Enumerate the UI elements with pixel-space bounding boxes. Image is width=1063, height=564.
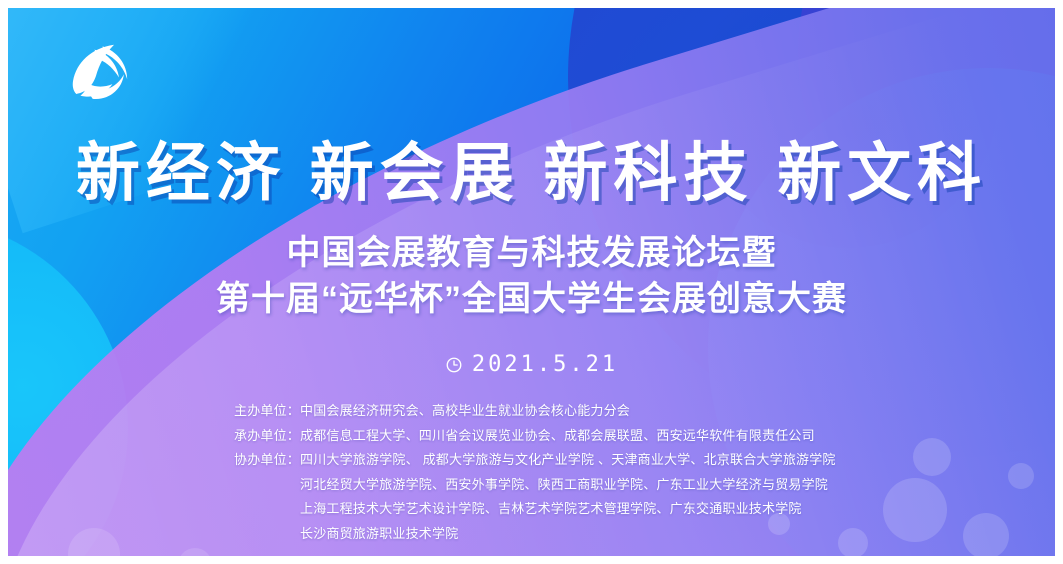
organizer-line-cohost: 协办单位：四川大学旅游学院、 成都大学旅游与文化产业学院 、天津商业大学、北京联… bbox=[234, 448, 836, 473]
event-date-text: 2021.5.21 bbox=[472, 352, 618, 377]
subtitle-line-1: 中国会展教育与科技发展论坛暨 bbox=[8, 230, 1055, 276]
organizer-line-cohost-3: 上海工程技术大学艺术设计学院、吉林艺术学院艺术管理学院、广东交通职业技术学院 bbox=[234, 497, 836, 522]
main-title: 新经济 新会展 新科技 新文科 bbox=[8, 133, 1055, 213]
organizer-line-cohost-4: 长沙商贸旅游职业技术学院 bbox=[234, 522, 836, 547]
clock-icon bbox=[445, 356, 463, 374]
organizer-line-host: 主办单位：中国会展经济研究会、高校毕业生就业协会核心能力分会 bbox=[234, 399, 836, 424]
organizations-block: 主办单位：中国会展经济研究会、高校毕业生就业协会核心能力分会 承办单位：成都信息… bbox=[234, 399, 836, 546]
decorative-bubble bbox=[963, 513, 1009, 556]
subtitle-line-2: 第十届“远华杯”全国大学生会展创意大赛 bbox=[8, 276, 1055, 322]
organizer-line-undertaker: 承办单位：成都信息工程大学、四川省会议展览业协会、成都会展联盟、西安远华软件有限… bbox=[234, 424, 836, 449]
leaf-swirl-logo-icon bbox=[55, 30, 137, 112]
event-date: 2021.5.21 bbox=[8, 352, 1055, 377]
decorative-bubble bbox=[838, 528, 868, 556]
subtitle-block: 中国会展教育与科技发展论坛暨 第十届“远华杯”全国大学生会展创意大赛 bbox=[8, 230, 1055, 322]
decorative-bubble bbox=[1008, 463, 1034, 489]
organizer-line-cohost-2: 河北经贸大学旅游学院、西安外事学院、陕西工商职业学院、广东工业大学经济与贸易学院 bbox=[234, 473, 836, 498]
event-poster-banner: 新经济 新会展 新科技 新文科 中国会展教育与科技发展论坛暨 第十届“远华杯”全… bbox=[8, 8, 1055, 556]
decorative-bubble bbox=[883, 478, 947, 542]
decorative-bubble bbox=[913, 438, 951, 476]
